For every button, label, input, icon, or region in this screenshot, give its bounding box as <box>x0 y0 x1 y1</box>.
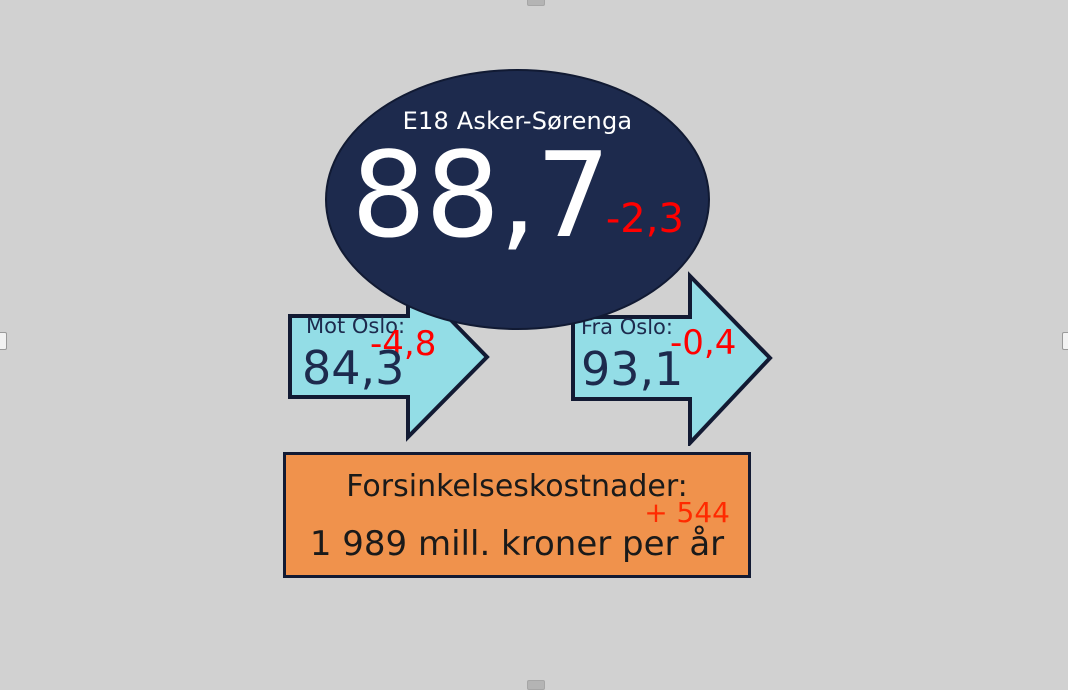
selection-handle-bottom[interactable] <box>527 680 545 690</box>
ellipse-shape-corridor-summary[interactable]: E18 Asker-Sørenga 88,7 -2,3 <box>325 69 710 330</box>
ellipse-value: 88,7 <box>351 135 610 255</box>
ellipse-delta: -2,3 <box>606 199 684 239</box>
selection-handle-left[interactable] <box>0 332 7 350</box>
selection-handle-right[interactable] <box>1062 332 1068 350</box>
arrow-value-from-oslo: 93,1 <box>581 346 683 392</box>
arrow-value-towards-oslo: 84,3 <box>302 345 404 391</box>
cost-box[interactable]: Forsinkelseskostnader: + 544 1 989 mill.… <box>283 452 751 578</box>
slide-canvas: Mot Oslo: -4,8 84,3 Fra Oslo: -0,4 93,1 … <box>0 0 1068 688</box>
cost-box-value: 1 989 mill. kroner per år <box>286 524 748 564</box>
selection-handle-top[interactable] <box>527 0 545 6</box>
ellipse-value-row: 88,7 -2,3 <box>327 135 708 255</box>
